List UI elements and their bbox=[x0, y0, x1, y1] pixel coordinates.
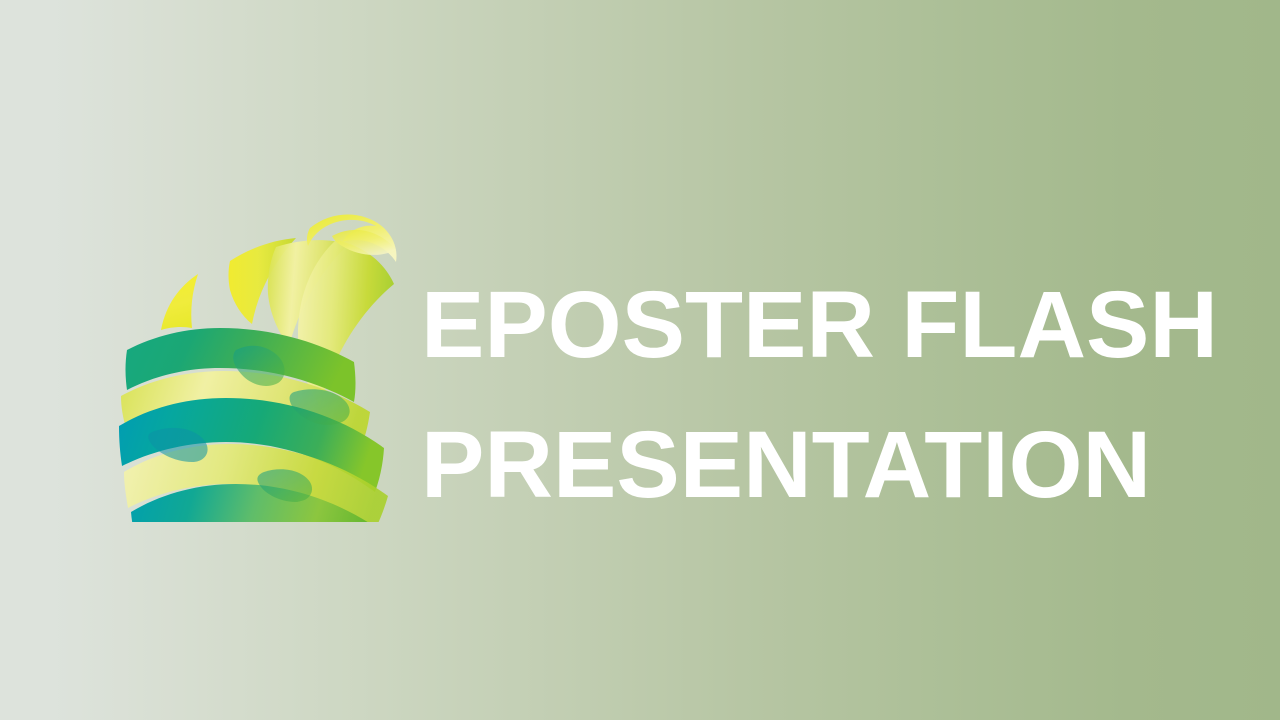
slide-canvas: EPOSTER FLASH PRESENTATION bbox=[0, 0, 1280, 720]
page-title: EPOSTER FLASH PRESENTATION bbox=[421, 255, 1221, 535]
globe-ribbon-logo bbox=[118, 200, 410, 522]
title-line-1: EPOSTER FLASH bbox=[421, 255, 1221, 395]
globe-ribbon-icon bbox=[118, 200, 410, 522]
globe-bands bbox=[119, 215, 397, 523]
title-line-2: PRESENTATION bbox=[421, 395, 1221, 535]
